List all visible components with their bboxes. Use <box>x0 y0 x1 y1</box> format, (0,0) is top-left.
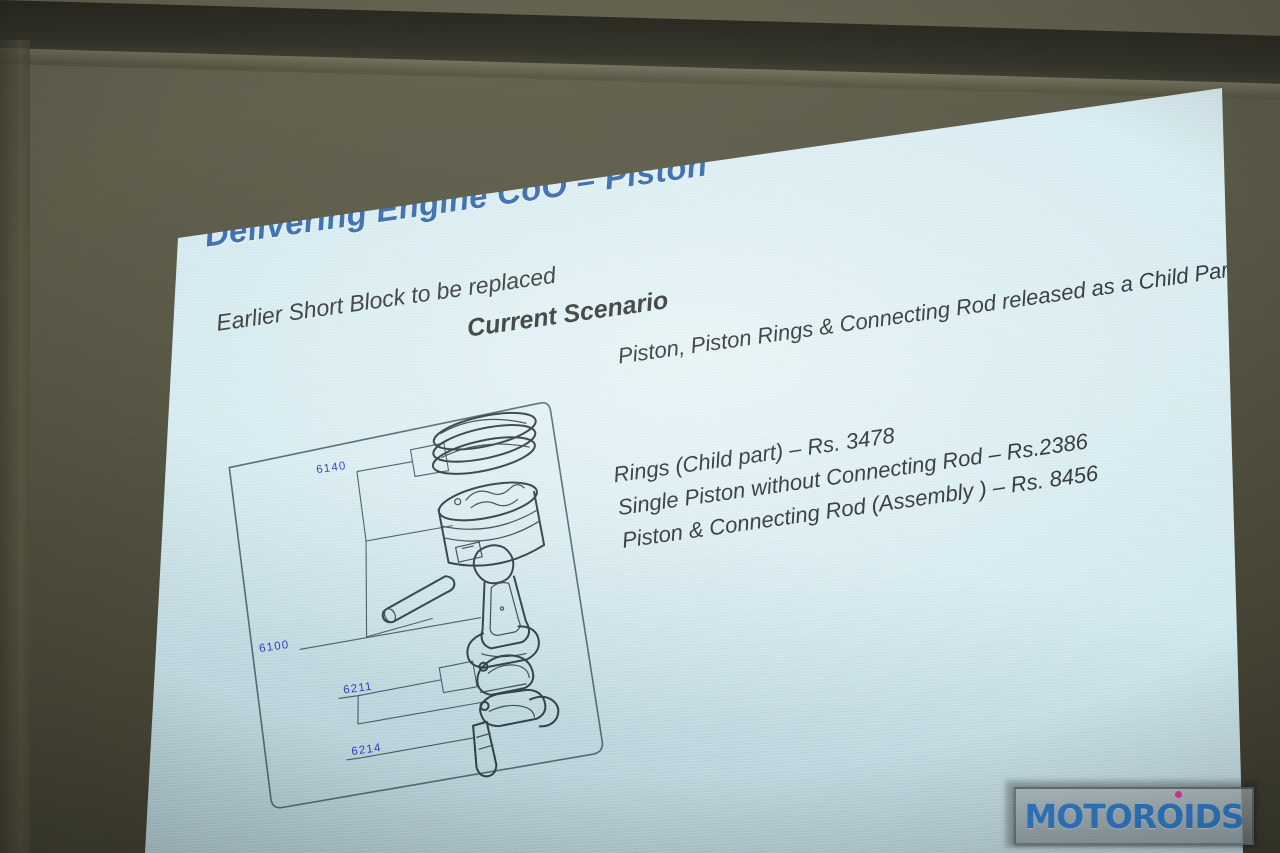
callout-6140-label: 6140 <box>316 460 348 476</box>
body-paragraph: Piston, Piston Rings & Connecting Rod re… <box>616 247 1274 373</box>
callout-6100-label: 6100 <box>258 639 290 655</box>
wall-corner <box>0 40 30 853</box>
price-list: Rings (Child part) – Rs. 3478 Single Pis… <box>611 360 1280 557</box>
gudgeon-pin-drawing <box>379 575 459 625</box>
bearing-cap-drawing <box>478 686 560 735</box>
callout-6211-label: 6211 <box>343 681 374 697</box>
watermark-text: MOTOROIDS <box>1024 797 1243 836</box>
callout-6214-label: 6214 <box>351 742 383 758</box>
motoroids-watermark: MOTOROIDS <box>1014 787 1254 845</box>
piston-drawing <box>435 475 547 571</box>
cap-bolt-drawing <box>471 721 498 777</box>
piston-assembly-diagram: 6140 6100 6211 6214 <box>212 390 628 819</box>
piston-rings-drawing <box>426 405 543 481</box>
